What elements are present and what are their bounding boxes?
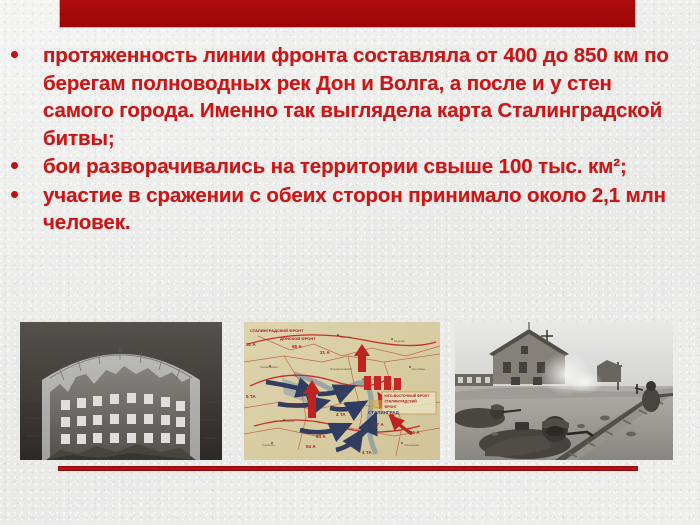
bullet-text: бои разворачивались на территории свыше … xyxy=(43,153,700,181)
soldiers-railway-photo xyxy=(455,322,673,460)
bottom-divider xyxy=(58,466,638,471)
ruined-building-illustration xyxy=(20,322,222,460)
battle-map-illustration: ЮГО-ВОСТОЧНЫЙ ФРОНТ СТАЛИНГРАДСКИЙ ФРОНТ… xyxy=(244,322,440,460)
ruined-building-photo xyxy=(20,322,222,460)
list-item: протяженность линии фронта составляла от… xyxy=(0,42,700,152)
bullet-dot-icon xyxy=(11,191,18,198)
bullet-text: протяженность линии фронта составляла от… xyxy=(43,42,700,152)
bullet-dot-icon xyxy=(11,51,18,58)
stalingrad-battle-map: ЮГО-ВОСТОЧНЫЙ ФРОНТ СТАЛИНГРАДСКИЙ ФРОНТ… xyxy=(244,322,440,460)
bullet-dot-icon xyxy=(11,162,18,169)
bullet-list: протяженность линии фронта составляла от… xyxy=(0,42,700,238)
title-banner xyxy=(60,0,635,27)
image-strip: ЮГО-ВОСТОЧНЫЙ ФРОНТ СТАЛИНГРАДСКИЙ ФРОНТ… xyxy=(0,322,700,462)
bullet-text: участие в сражении с обеих сторон приним… xyxy=(43,182,700,237)
list-item: участие в сражении с обеих сторон приним… xyxy=(0,182,700,237)
slide-background: протяженность линии фронта составляла от… xyxy=(0,0,700,525)
list-item: бои разворачивались на территории свыше … xyxy=(0,153,700,181)
soldiers-railway-illustration xyxy=(455,322,673,460)
